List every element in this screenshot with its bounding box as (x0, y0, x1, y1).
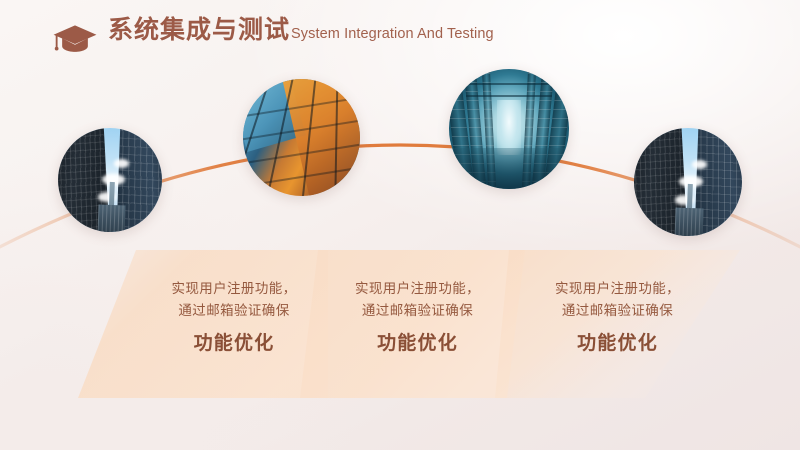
slide-header: 系统集成与测试 System Integration And Testing (52, 18, 494, 43)
circle-photo-4[interactable] (634, 128, 742, 236)
text-panel-3[interactable]: 实现用户注册功能， 通过邮箱验证确保 功能优化 (495, 250, 740, 398)
panel-line-2: 通过邮箱验证确保 (310, 300, 525, 322)
text-panel-1[interactable]: 实现用户注册功能， 通过邮箱验证确保 功能优化 (78, 250, 328, 398)
ceiling-beam (466, 95, 552, 97)
corridor-floor (449, 148, 569, 189)
photo-skyscrapers-blue-sky (634, 128, 742, 236)
panel-line-1: 实现用户注册功能， (495, 278, 740, 300)
text-panel-2[interactable]: 实现用户注册功能， 通过邮箱验证确保 功能优化 (300, 250, 525, 398)
panel-line-1: 实现用户注册功能， (310, 278, 525, 300)
mid-building (674, 207, 703, 236)
page-title-zh: 系统集成与测试 (108, 18, 290, 43)
page-title-en: System Integration And Testing (291, 27, 494, 42)
circle-photo-3[interactable] (449, 69, 569, 189)
panel-group: 实现用户注册功能， 通过邮箱验证确保 功能优化 实现用户注册功能， 通过邮箱验证… (0, 250, 800, 400)
panel-text: 实现用户注册功能， 通过邮箱验证确保 功能优化 (495, 250, 740, 355)
panel-text: 实现用户注册功能， 通过邮箱验证确保 功能优化 (300, 250, 525, 355)
graduation-cap-icon (52, 24, 98, 54)
photo-skyscrapers-blue-sky (58, 128, 162, 232)
circle-photo-2[interactable] (243, 79, 360, 196)
photo-glass-facade (243, 79, 360, 196)
panel-text: 实现用户注册功能， 通过邮箱验证确保 功能优化 (78, 250, 328, 355)
cloud (114, 159, 129, 167)
mid-building (97, 205, 125, 232)
panel-line-2: 通过邮箱验证确保 (495, 300, 740, 322)
photo-teal-corridor (449, 69, 569, 189)
vanishing-point (497, 100, 521, 155)
slide-canvas: 系统集成与测试 System Integration And Testing (0, 0, 800, 450)
panel-emphasis: 功能优化 (495, 328, 740, 355)
panel-emphasis: 功能优化 (310, 328, 525, 355)
circle-photo-1[interactable] (58, 128, 162, 232)
ceiling-beam (459, 83, 560, 85)
